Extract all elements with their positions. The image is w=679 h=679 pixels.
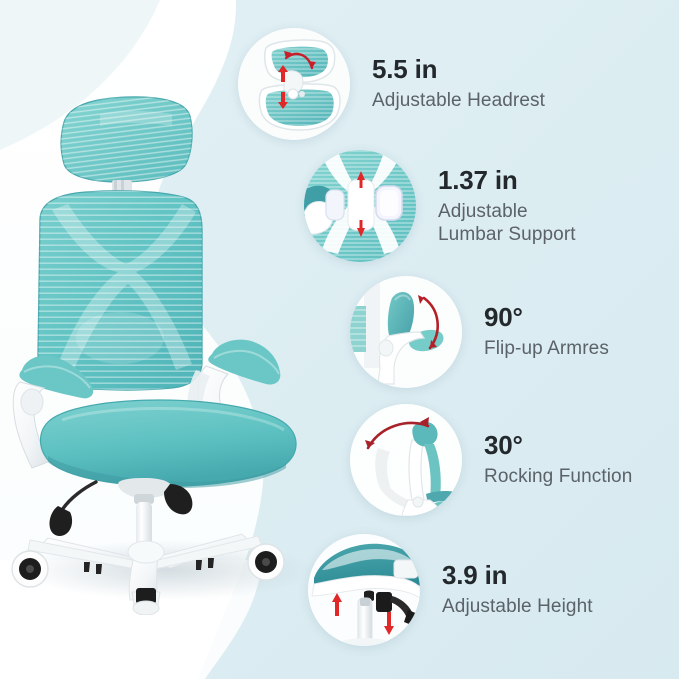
feature-description: Flip-up Armres [484, 337, 609, 360]
headrest-height-arrows-icon [238, 28, 350, 140]
feature-description: Adjustable Height [442, 595, 593, 618]
feature-description: Adjustable Lumbar Support [438, 200, 576, 246]
armrest-rotation-arrow-icon [350, 276, 462, 388]
seat [41, 400, 297, 488]
feature-description: Rocking Function [484, 465, 632, 488]
feature-text-block: 3.9 in Adjustable Height [442, 561, 593, 618]
feature-value: 3.9 in [442, 561, 593, 591]
office-chair-image [0, 70, 330, 615]
feature-rocking-function[interactable]: 30° Rocking Function [350, 404, 632, 516]
gas-cylinder-arrows-icon [308, 534, 420, 646]
feature-description: Adjustable Headrest [372, 89, 545, 112]
feature-text-block: 1.37 in Adjustable Lumbar Support [438, 166, 576, 246]
feature-value: 90° [484, 303, 609, 333]
feature-adjustable-height[interactable]: 3.9 in Adjustable Height [308, 534, 593, 646]
caster-right [248, 544, 284, 580]
infographic-canvas: 5.5 in Adjustable Headrest [0, 0, 679, 679]
caster-front [132, 588, 160, 615]
feature-value: 1.37 in [438, 166, 576, 196]
lumbar-support-arrows-icon [304, 150, 416, 262]
feature-value: 30° [484, 431, 632, 461]
feature-adjustable-headrest[interactable]: 5.5 in Adjustable Headrest [238, 28, 545, 140]
feature-text-block: 30° Rocking Function [484, 431, 632, 488]
feature-adjustable-lumbar-support[interactable]: 1.37 in Adjustable Lumbar Support [304, 150, 576, 262]
feature-flip-up-armrest[interactable]: 90° Flip-up Armres [350, 276, 609, 388]
feature-text-block: 5.5 in Adjustable Headrest [372, 55, 545, 112]
headrest [61, 97, 192, 193]
feature-text-block: 90° Flip-up Armres [484, 303, 609, 360]
rocking-arc-arrow-icon [350, 404, 462, 516]
feature-value: 5.5 in [372, 55, 545, 85]
caster-left [12, 551, 48, 587]
